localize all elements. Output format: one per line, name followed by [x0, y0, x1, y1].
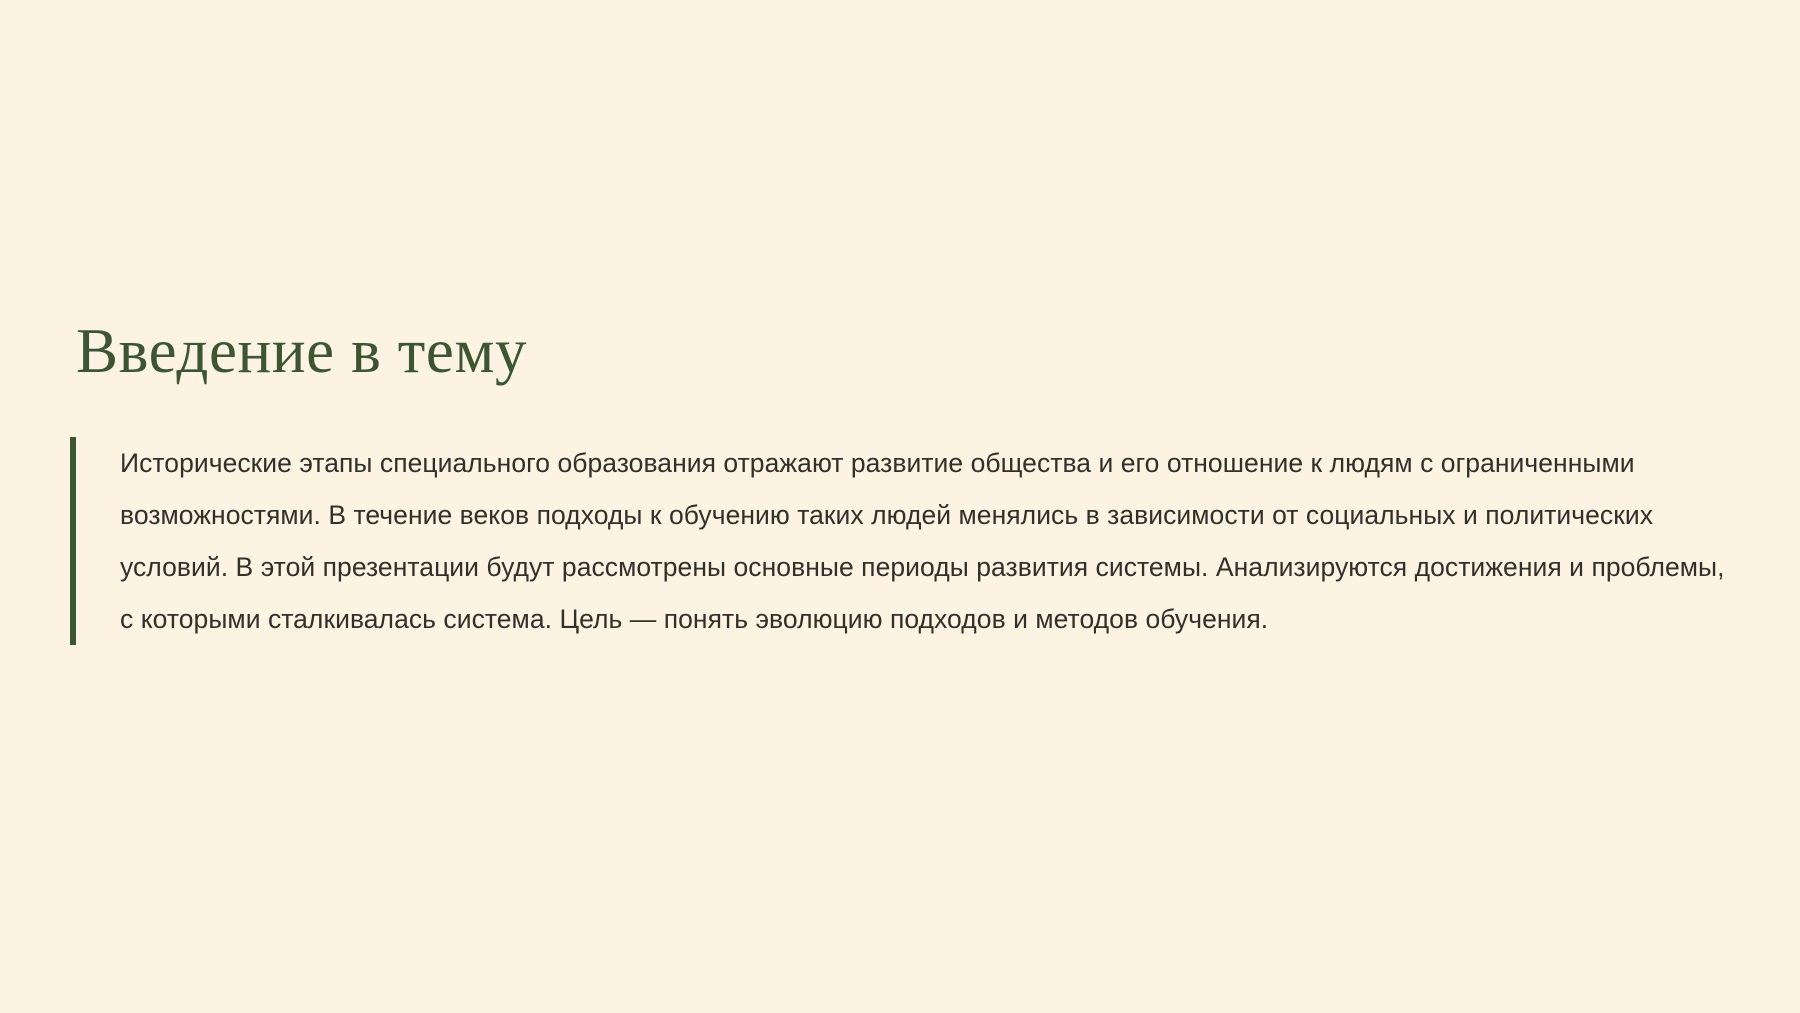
body-paragraph: Исторические этапы специального образова… [76, 437, 1730, 645]
slide-canvas: Введение в тему Исторические этапы специ… [0, 0, 1800, 1013]
page-title: Введение в тему [76, 316, 527, 387]
body-quote-block: Исторические этапы специального образова… [70, 437, 1730, 645]
